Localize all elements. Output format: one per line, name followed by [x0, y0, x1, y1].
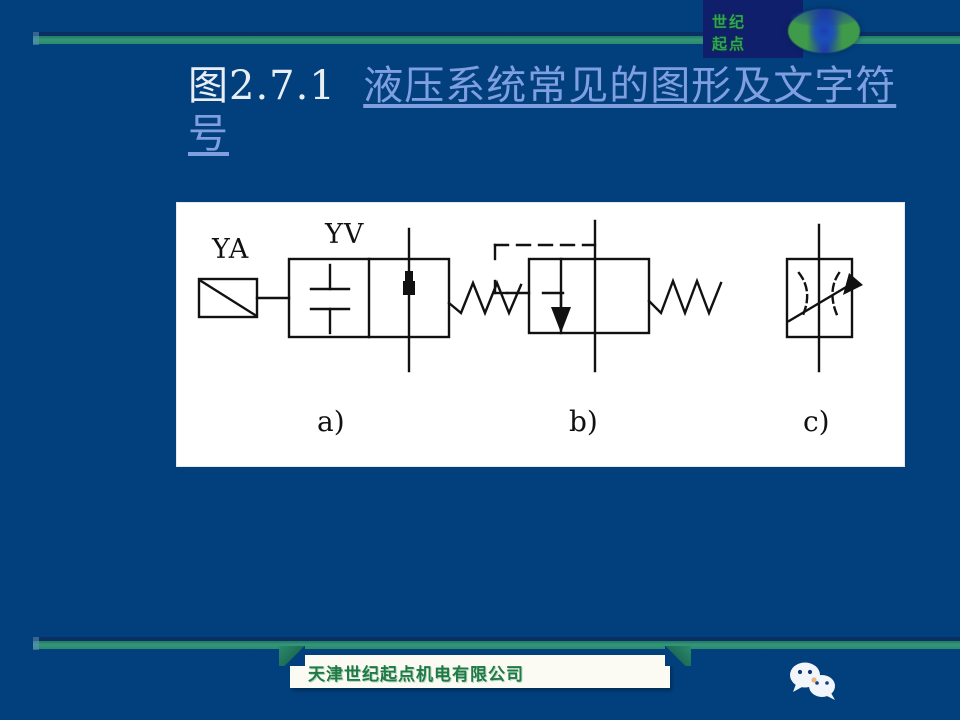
footer-company-name: 天津世纪起点机电有限公司: [308, 660, 524, 685]
svg-text:YA: YA: [211, 234, 249, 265]
svg-text:c): c): [803, 405, 830, 438]
title-figure-number: 图2.7.1: [188, 63, 336, 109]
wechat-icon: [786, 658, 846, 706]
footer-ribbon-right-fold: [665, 646, 691, 666]
logo-orb-icon: [788, 9, 860, 53]
svg-text:a): a): [317, 405, 345, 438]
slide-title: 图2.7.1 液压系统常见的图形及文字符号: [188, 62, 898, 158]
footer-ribbon-left-fold: [279, 646, 305, 666]
logo-line-1: 世纪: [712, 11, 794, 32]
hydraulic-symbols-figure: YA YV a): [176, 202, 905, 467]
top-rule-left-cap: [33, 32, 39, 45]
hydraulic-symbols-drawing: YA YV a): [177, 203, 904, 466]
logo-line-2: 起点: [712, 33, 794, 54]
bottom-rule-left-cap: [33, 637, 39, 650]
slide-canvas: 世纪 起点 图2.7.1 液压系统常见的图形及文字符号: [0, 0, 960, 720]
svg-text:b): b): [569, 405, 598, 438]
wechat-bubbles-glyph: [786, 658, 846, 706]
footer-plate: 天津世纪起点机电有限公司: [290, 655, 670, 688]
svg-text:YV: YV: [324, 219, 364, 250]
bottom-divider-rule: [33, 637, 960, 650]
bottom-rule-green-band: [33, 641, 960, 649]
